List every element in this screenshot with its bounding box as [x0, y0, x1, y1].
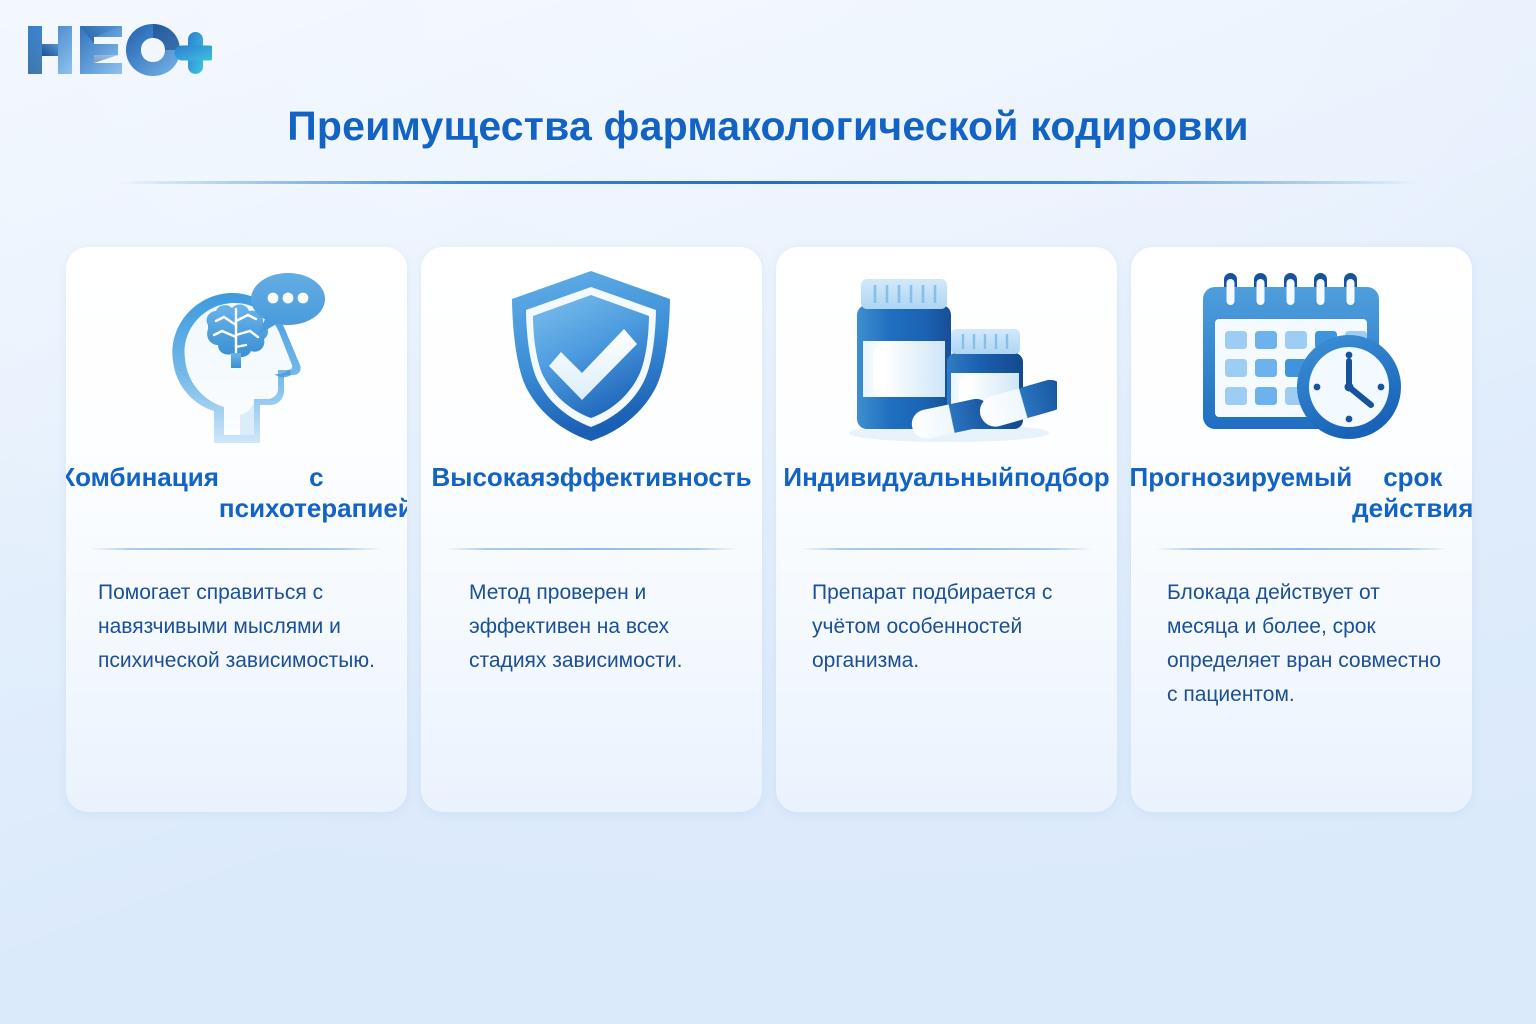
title-divider — [118, 181, 1418, 184]
card-body-text: Метод проверен и эффективен на всех стад… — [421, 550, 762, 678]
card-title: Прогнозируемыйсрок действия — [1131, 462, 1472, 540]
card-icon-slot — [776, 247, 1117, 462]
brand-logo — [22, 18, 212, 82]
head-brain-speech-bubble-icon — [142, 265, 332, 445]
benefit-card[interactable]: Комбинацияс психотерапией Помогает справ… — [66, 247, 407, 812]
calendar-clock-icon — [1197, 265, 1407, 445]
card-body-text: Блокада действует от месяца и более, сро… — [1131, 550, 1472, 712]
shield-check-icon — [504, 265, 679, 445]
card-title: Индивидуальныйподбор — [776, 462, 1117, 540]
card-body-text: Препарат подбирается с учётом особенност… — [776, 550, 1117, 678]
benefit-card[interactable]: Высокаяэффективность Метод проверен и эф… — [421, 247, 762, 812]
neo-plus-logo-icon — [22, 18, 212, 82]
benefit-card[interactable]: Прогнозируемыйсрок действия Блокада дейс… — [1131, 247, 1472, 812]
benefit-card[interactable]: Индивидуальныйподбор Препарат подбираетс… — [776, 247, 1117, 812]
card-icon-slot — [421, 247, 762, 462]
card-body-text: Помогает справиться с навязчивыми мыслям… — [66, 550, 407, 678]
infographic-slide: Преимущества фармакологической кодировки — [0, 0, 1536, 1024]
page-title: Преимущества фармакологической кодировки — [287, 104, 1249, 148]
benefit-card-list: Комбинацияс психотерапией Помогает справ… — [66, 247, 1472, 812]
card-title: Комбинацияс психотерапией — [66, 462, 407, 540]
card-title: Высокаяэффективность — [421, 462, 762, 540]
card-icon-slot — [66, 247, 407, 462]
card-icon-slot — [1131, 247, 1472, 462]
pill-bottles-capsules-icon — [837, 265, 1057, 445]
page-title-wrap: Преимущества фармакологической кодировки — [0, 104, 1536, 148]
